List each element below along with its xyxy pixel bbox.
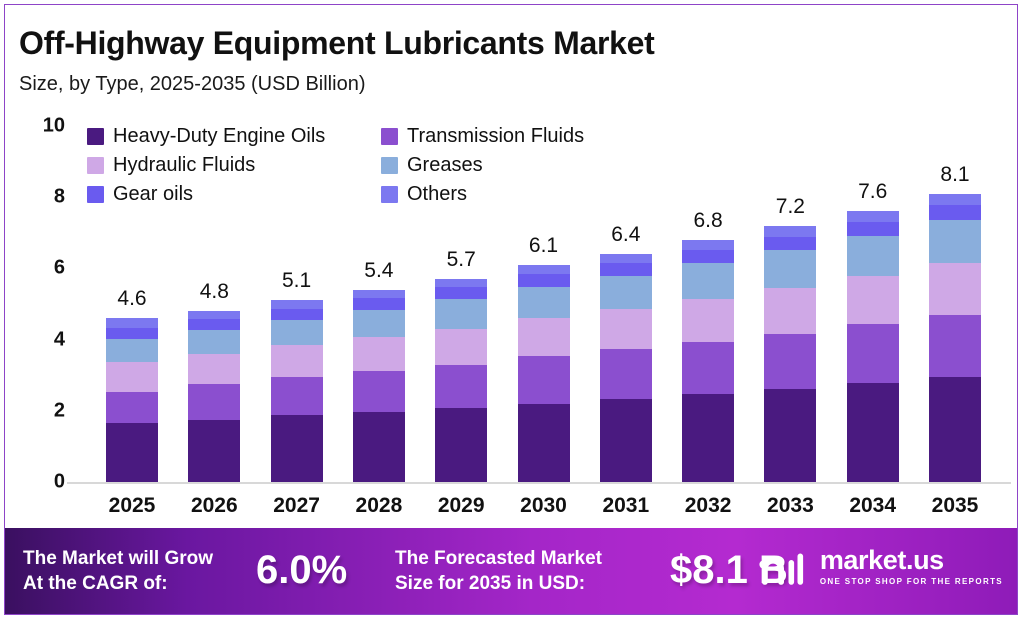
bar-segment bbox=[764, 226, 816, 237]
bar-segment bbox=[518, 265, 570, 274]
x-axis-tick-label: 2026 bbox=[169, 494, 259, 518]
bar-segment bbox=[764, 334, 816, 389]
bar-segment bbox=[106, 423, 158, 482]
x-axis-baseline bbox=[67, 482, 1011, 484]
cagr-label: The Market will Grow At the CAGR of: bbox=[23, 546, 213, 596]
bar-segment bbox=[847, 276, 899, 323]
x-axis-tick-label: 2035 bbox=[910, 494, 1000, 518]
cagr-value: 6.0% bbox=[256, 548, 347, 593]
bar-segment bbox=[106, 318, 158, 327]
bar-total-label: 6.8 bbox=[663, 209, 753, 233]
bar-segment bbox=[353, 412, 405, 482]
bar-segment bbox=[847, 236, 899, 276]
bar-segment bbox=[271, 320, 323, 346]
bar-segment bbox=[435, 299, 487, 328]
x-axis-tick-label: 2027 bbox=[252, 494, 342, 518]
bar-total-label: 8.1 bbox=[910, 163, 1000, 187]
bar-segment bbox=[271, 415, 323, 482]
bar-segment bbox=[435, 365, 487, 409]
bar-segment bbox=[271, 309, 323, 320]
bar-segment bbox=[188, 354, 240, 384]
bar-segment bbox=[518, 287, 570, 318]
bar-segment bbox=[106, 328, 158, 339]
bar-segment bbox=[929, 377, 981, 482]
bar-segment bbox=[929, 220, 981, 263]
bar-total-label: 7.6 bbox=[828, 180, 918, 204]
bar-segment bbox=[764, 250, 816, 288]
market-us-logo[interactable]: market.us ONE STOP SHOP FOR THE REPORTS bbox=[759, 547, 1003, 588]
bar-segment bbox=[929, 315, 981, 377]
logo-text-block: market.us ONE STOP SHOP FOR THE REPORTS bbox=[820, 547, 1003, 588]
logo-tagline: ONE STOP SHOP FOR THE REPORTS bbox=[820, 576, 1003, 588]
bar-segment bbox=[847, 211, 899, 222]
bar-total-label: 5.7 bbox=[416, 248, 506, 272]
bar-segment bbox=[847, 383, 899, 482]
bar-total-label: 5.4 bbox=[334, 259, 424, 283]
bar-segment bbox=[600, 349, 652, 399]
x-axis-tick-label: 2029 bbox=[416, 494, 506, 518]
market-us-logo-icon bbox=[759, 549, 811, 587]
bar-segment bbox=[600, 309, 652, 349]
bar-segment bbox=[353, 337, 405, 371]
bar-total-label: 4.8 bbox=[169, 280, 259, 304]
bar-segment bbox=[682, 263, 734, 298]
bar-segment bbox=[929, 205, 981, 220]
bar-2033[interactable] bbox=[764, 226, 816, 482]
bar-2026[interactable] bbox=[188, 311, 240, 482]
bar-2031[interactable] bbox=[600, 254, 652, 482]
bar-segment bbox=[353, 371, 405, 411]
bar-segment bbox=[435, 408, 487, 482]
bar-2035[interactable] bbox=[929, 194, 981, 482]
bar-total-label: 7.2 bbox=[745, 195, 835, 219]
bar-segment bbox=[764, 288, 816, 334]
bar-segment bbox=[188, 330, 240, 354]
chart-card: Off-Highway Equipment Lubricants Market … bbox=[4, 4, 1018, 615]
bar-segment bbox=[682, 240, 734, 250]
forecast-label: The Forecasted Market Size for 2035 in U… bbox=[395, 546, 602, 596]
bar-2027[interactable] bbox=[271, 300, 323, 482]
x-axis-tick-label: 2033 bbox=[745, 494, 835, 518]
bar-segment bbox=[188, 384, 240, 419]
bar-segment bbox=[271, 377, 323, 415]
x-axis-tick-label: 2030 bbox=[499, 494, 589, 518]
bar-segment bbox=[600, 254, 652, 263]
chart-plot-area: 0246810 4.620254.820265.120275.420285.72… bbox=[5, 5, 1018, 535]
bar-segment bbox=[600, 276, 652, 309]
bar-segment bbox=[106, 392, 158, 423]
bar-segment bbox=[682, 299, 734, 342]
bar-2025[interactable] bbox=[106, 318, 158, 482]
bar-2032[interactable] bbox=[682, 240, 734, 482]
bar-segment bbox=[353, 298, 405, 310]
bar-segment bbox=[106, 362, 158, 392]
bar-segment bbox=[271, 345, 323, 377]
logo-name: market.us bbox=[820, 547, 1003, 574]
bar-segment bbox=[435, 279, 487, 287]
x-axis-tick-label: 2034 bbox=[828, 494, 918, 518]
bar-segment bbox=[682, 250, 734, 264]
bar-total-label: 5.1 bbox=[252, 269, 342, 293]
bar-segment bbox=[106, 339, 158, 362]
bar-segment bbox=[929, 263, 981, 315]
bar-segment bbox=[518, 318, 570, 356]
bar-2030[interactable] bbox=[518, 265, 570, 482]
bar-segment bbox=[353, 290, 405, 298]
bar-segment bbox=[764, 389, 816, 482]
bar-2029[interactable] bbox=[435, 279, 487, 482]
bar-segment bbox=[764, 237, 816, 251]
x-axis-tick-label: 2031 bbox=[581, 494, 671, 518]
bar-segment bbox=[271, 300, 323, 308]
bar-segment bbox=[682, 342, 734, 394]
bar-segment bbox=[682, 394, 734, 482]
bar-segment bbox=[188, 420, 240, 482]
bar-segment bbox=[929, 194, 981, 205]
bar-segment bbox=[600, 399, 652, 482]
bar-segment bbox=[188, 311, 240, 319]
bar-total-label: 6.4 bbox=[581, 223, 671, 247]
bar-segment bbox=[518, 404, 570, 482]
bar-total-label: 6.1 bbox=[499, 234, 589, 258]
bar-total-label: 4.6 bbox=[87, 287, 177, 311]
x-axis-tick-label: 2028 bbox=[334, 494, 424, 518]
footer-banner: The Market will Grow At the CAGR of: 6.0… bbox=[5, 528, 1018, 614]
bar-segment bbox=[353, 310, 405, 337]
bar-segment bbox=[435, 329, 487, 365]
bar-2028[interactable] bbox=[353, 290, 405, 482]
bar-segment bbox=[518, 356, 570, 403]
bar-segment bbox=[435, 287, 487, 299]
bar-segment bbox=[847, 222, 899, 236]
bar-segment bbox=[600, 263, 652, 277]
bar-segment bbox=[188, 319, 240, 330]
bar-2034[interactable] bbox=[847, 211, 899, 482]
x-axis-tick-label: 2025 bbox=[87, 494, 177, 518]
bar-segment bbox=[847, 324, 899, 383]
bar-segment bbox=[518, 274, 570, 288]
x-axis-tick-label: 2032 bbox=[663, 494, 753, 518]
